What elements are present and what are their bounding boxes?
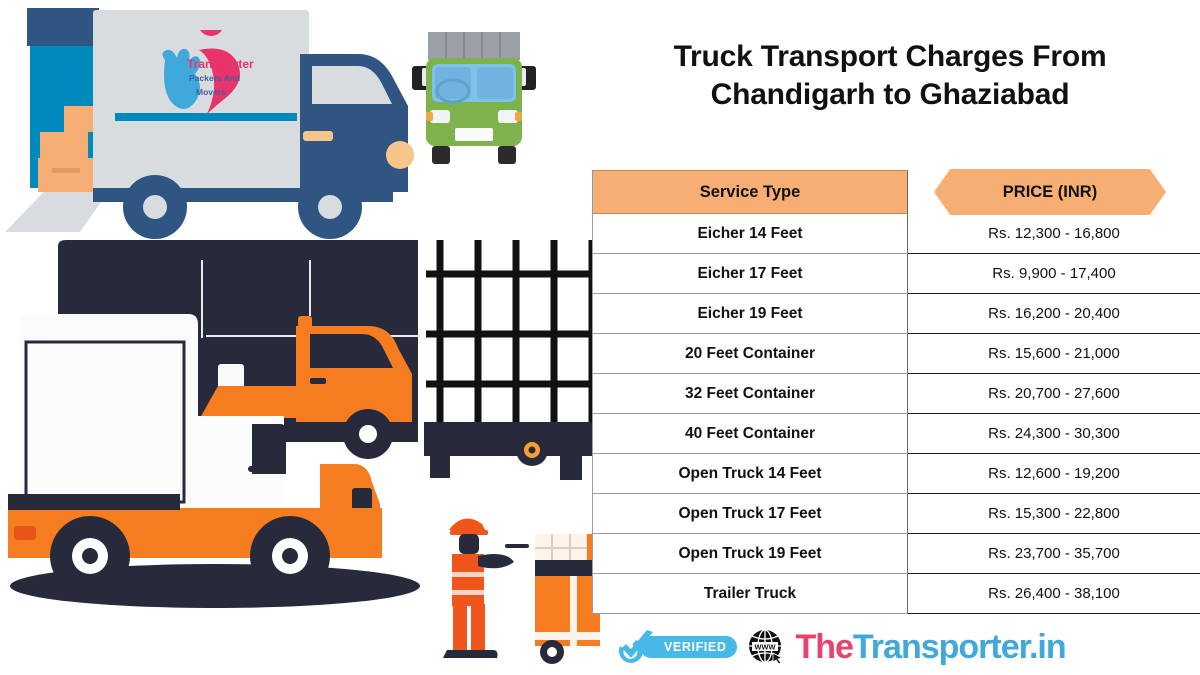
transporter-truck-logo: The Transporter Packers And Movers (143, 30, 268, 118)
service-type-cell: Trailer Truck (592, 574, 908, 614)
service-type-cell: Eicher 17 Feet (592, 254, 908, 294)
service-type-cell: Eicher 14 Feet (592, 214, 908, 254)
page-title-line-1: Truck Transport Charges From (600, 38, 1180, 76)
service-type-cell: Open Truck 14 Feet (592, 454, 908, 494)
table-header-row: Service Type PRICE (INR) (592, 170, 1200, 214)
column-header-service-type: Service Type (592, 170, 908, 214)
service-type-cell: 32 Feet Container (592, 374, 908, 414)
page-title: Truck Transport Charges From Chandigarh … (600, 38, 1180, 114)
price-cell: Rs. 20,700 - 27,600 (908, 374, 1200, 414)
page-title-line-2: Chandigarh to Ghaziabad (600, 76, 1180, 114)
service-type-cell: 20 Feet Container (592, 334, 908, 374)
service-type-cell: Open Truck 19 Feet (592, 534, 908, 574)
column-header-price: PRICE (INR) (934, 169, 1166, 215)
table-row: Eicher 19 Feet Rs. 16,200 - 20,400 (592, 294, 1200, 334)
column-header-price-wrap: PRICE (INR) (908, 170, 1200, 214)
price-cell: Rs. 9,900 - 17,400 (908, 254, 1200, 294)
green-truck-front-illustration (398, 18, 550, 180)
globe-www-label: WWW (755, 642, 776, 651)
price-cell: Rs. 23,700 - 35,700 (908, 534, 1200, 574)
worker-figure (443, 518, 514, 658)
price-cell: Rs. 12,600 - 19,200 (908, 454, 1200, 494)
globe-www-icon: WWW (746, 627, 786, 667)
price-cell: Rs. 26,400 - 38,100 (908, 574, 1200, 614)
truck-logo-the: The (167, 59, 187, 71)
brand-wordmark: TheTransporter.in (795, 628, 1065, 667)
price-cell: Rs. 24,300 - 30,300 (908, 414, 1200, 454)
brand-suffix: Transporter.in (853, 628, 1066, 666)
price-cell: Rs. 15,300 - 22,800 (908, 494, 1200, 534)
price-cell: Rs. 15,600 - 21,000 (908, 334, 1200, 374)
verified-label: VERIFIED (640, 636, 737, 658)
table-row: Trailer Truck Rs. 26,400 - 38,100 (592, 574, 1200, 614)
brand-prefix: The (795, 628, 852, 666)
table-row: Open Truck 14 Feet Rs. 12,600 - 19,200 (592, 454, 1200, 494)
table-row: Eicher 17 Feet Rs. 9,900 - 17,400 (592, 254, 1200, 294)
price-cell: Rs. 16,200 - 20,400 (908, 294, 1200, 334)
pricing-table: Service Type PRICE (INR) Eicher 14 Feet … (592, 170, 1200, 614)
table-row: 32 Feet Container Rs. 20,700 - 27,600 (592, 374, 1200, 414)
price-cell: Rs. 12,300 - 16,800 (908, 214, 1200, 254)
table-row: Open Truck 19 Feet Rs. 23,700 - 35,700 (592, 534, 1200, 574)
table-row: Open Truck 17 Feet Rs. 15,300 - 22,800 (592, 494, 1200, 534)
table-row: Eicher 14 Feet Rs. 12,300 - 16,800 (592, 214, 1200, 254)
logistics-scene-illustration (0, 238, 600, 675)
service-type-cell: Open Truck 17 Feet (592, 494, 908, 534)
table-row: 20 Feet Container Rs. 15,600 - 21,000 (592, 334, 1200, 374)
verified-badge: VERIFIED (616, 628, 737, 666)
service-type-cell: Eicher 19 Feet (592, 294, 908, 334)
service-type-cell: 40 Feet Container (592, 414, 908, 454)
truck-logo-transporter: Transporter (187, 57, 254, 71)
table-row: 40 Feet Container Rs. 24,300 - 30,300 (592, 414, 1200, 454)
truck-logo-packers-and: Packers And (189, 73, 240, 83)
footer-brand: VERIFIED WWW TheTransporter.in (616, 624, 1066, 670)
hand-cart-with-boxes (505, 534, 600, 664)
truck-logo-movers: Movers (196, 87, 226, 97)
